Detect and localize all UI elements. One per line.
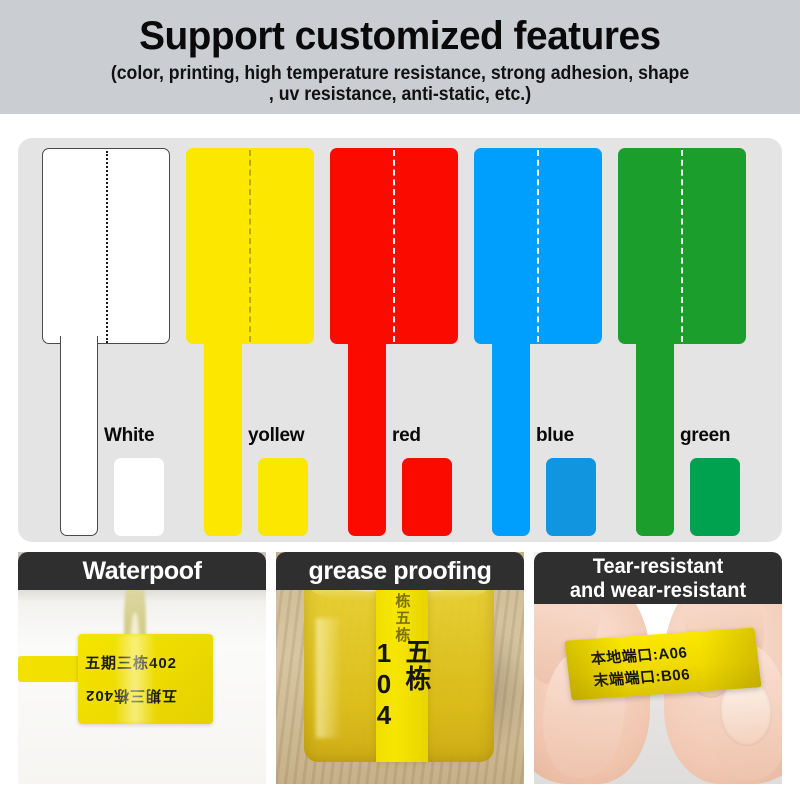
panel-title-line-2: and wear-resistant: [540, 579, 776, 603]
color-chip: [546, 458, 596, 536]
yellow-label-strip: 三栋五栋 五栋104: [376, 562, 428, 762]
color-name-label: green: [680, 425, 800, 447]
page-subtitle: (color, printing, high temperature resis…: [56, 63, 744, 106]
panel-title-grease-proofing: grease proofing: [276, 552, 524, 590]
tag-tail: [636, 336, 674, 536]
feature-panel-tear-resistant: 本地端口:A06 末端端口:B06 Tear-resistant and wea…: [534, 552, 782, 784]
perforation-line: [106, 151, 108, 343]
feature-panel-row: 五期三栋402 五期三栋402 Waterpoof 三栋五栋 五栋104: [18, 552, 782, 784]
feature-panel-grease-proofing: 三栋五栋 五栋104 grease proofing: [276, 552, 524, 784]
tag-tail: [348, 336, 386, 536]
tag-head: [474, 148, 602, 344]
tag-head: [330, 148, 458, 344]
page-title: Support customized features: [139, 16, 661, 56]
perforation-line: [681, 150, 683, 342]
infographic-page: Support customized features (color, prin…: [0, 0, 800, 800]
water-gloss: [114, 634, 156, 724]
tag-tail: [492, 336, 530, 536]
tag-tail: [204, 336, 242, 536]
color-tag-list: Whiteyollewredbluegreen: [18, 138, 782, 542]
color-options-card: Whiteyollewredbluegreen: [18, 138, 782, 542]
panel-title-line-1: Tear-resistant: [540, 555, 776, 579]
tag-head: [42, 148, 170, 344]
color-chip: [690, 458, 740, 536]
tag-tail: [60, 336, 98, 536]
label-text-bottom: 五栋104: [368, 638, 436, 762]
color-chip: [114, 458, 164, 536]
tag-head: [618, 148, 746, 344]
subtitle-line-2: , uv resistance, anti-static, etc.): [56, 84, 744, 105]
header-banner: Support customized features (color, prin…: [0, 0, 800, 114]
panel-title-tear-resistant: Tear-resistant and wear-resistant: [534, 552, 782, 604]
subtitle-line-1: (color, printing, high temperature resis…: [56, 63, 744, 84]
panel-title-waterproof: Waterpoof: [18, 552, 266, 590]
color-chip: [258, 458, 308, 536]
color-chip: [402, 458, 452, 536]
feature-panel-waterproof: 五期三栋402 五期三栋402 Waterpoof: [18, 552, 266, 784]
perforation-line: [393, 150, 395, 342]
perforation-line: [249, 150, 251, 342]
perforation-line: [537, 150, 539, 342]
tag-head: [186, 148, 314, 344]
glass-highlight: [316, 618, 342, 738]
